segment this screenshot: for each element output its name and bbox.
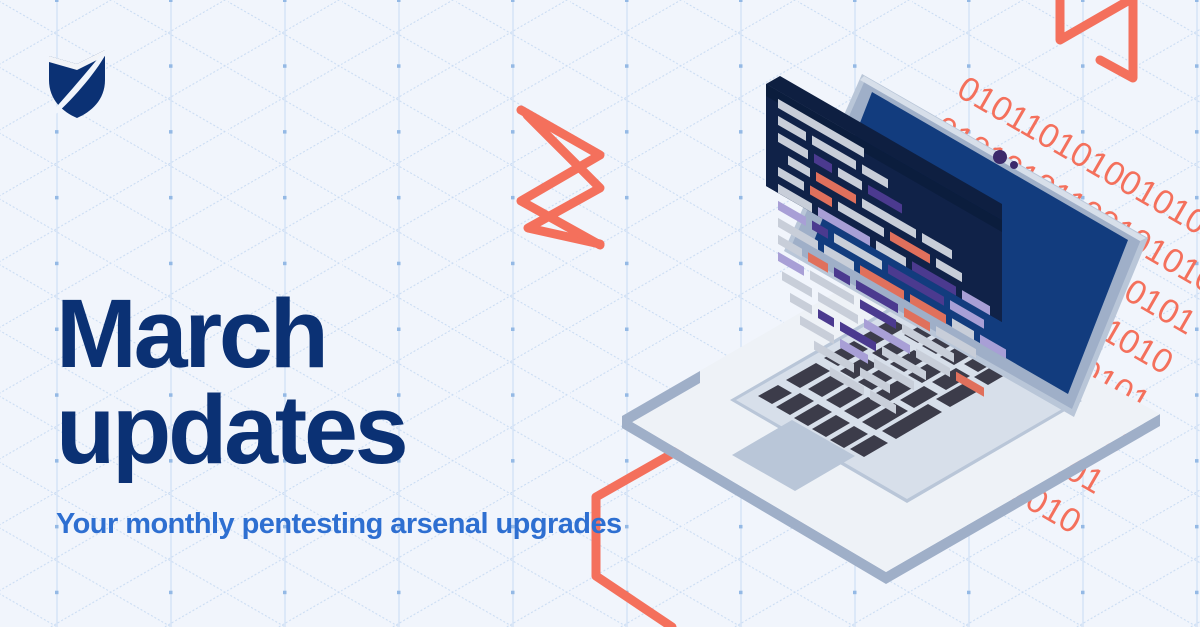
text-block: March updates Your monthly pentesting ar… <box>56 286 676 541</box>
shield-logo-icon <box>46 44 108 120</box>
shield-logo <box>46 44 108 120</box>
camera-dot <box>993 150 1007 164</box>
page-title: March updates <box>56 286 676 478</box>
marketing-banner: 01011010100101010 01010101100101010 1010… <box>0 0 1200 627</box>
camera-dot-small <box>1010 161 1018 169</box>
page-subtitle: Your monthly pentesting arsenal upgrades <box>56 478 676 541</box>
